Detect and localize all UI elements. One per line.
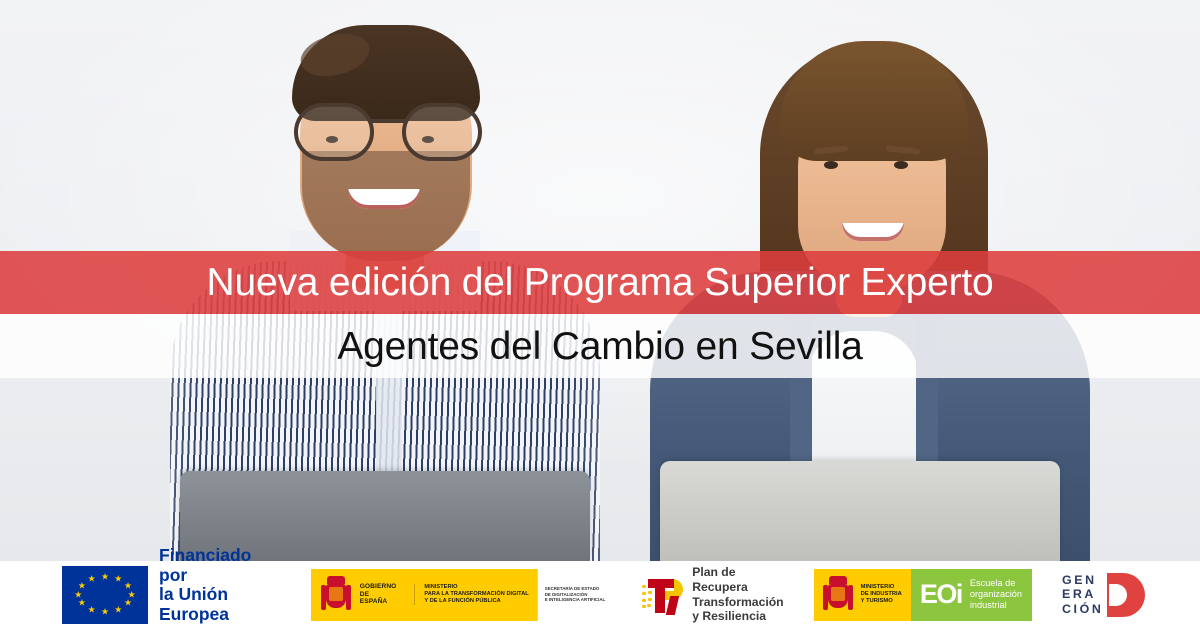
gobierno-line-1: GOBIERNO xyxy=(360,583,397,591)
prtr-dot-icon xyxy=(648,598,651,601)
coat-of-arms-icon xyxy=(321,576,351,614)
generacion-line-2: ERA xyxy=(1062,587,1103,601)
eu-star-icon: ★ xyxy=(114,606,122,615)
eoi-wordmark: EOi xyxy=(920,581,962,608)
logo-eoi: EOi Escuela de organización industrial xyxy=(911,569,1032,621)
eu-star-icon: ★ xyxy=(124,599,132,608)
page-title: Nueva edición del Programa Superior Expe… xyxy=(207,263,994,302)
man-smile xyxy=(348,189,420,209)
industria-line-1: MINISTERIO xyxy=(861,584,902,591)
eu-star-icon: ★ xyxy=(88,574,96,583)
eu-line-2: la Unión Europea xyxy=(159,585,281,624)
coat-of-arms-icon-2 xyxy=(823,576,853,614)
prtr-line-3: y Resiliencia xyxy=(692,609,783,624)
eu-star-icon: ★ xyxy=(114,574,122,583)
prtr-mark-icon xyxy=(642,575,684,615)
generacion-line-3: CIÓN xyxy=(1062,602,1103,616)
eu-star-icon: ★ xyxy=(78,581,86,590)
promo-poster: Nueva edición del Programa Superior Expe… xyxy=(0,0,1200,628)
woman-eye-left xyxy=(824,161,838,169)
woman-hair-front xyxy=(780,41,968,161)
prtr-dot-icon xyxy=(642,585,645,588)
glasses-bridge xyxy=(370,119,408,123)
prtr-line-2: Transformación xyxy=(692,595,783,610)
prtr-dot-icon xyxy=(648,591,651,594)
logo-european-union: ★★★★★★★★★★★★ Financiado por la Unión Eur… xyxy=(62,546,281,628)
eu-star-icon: ★ xyxy=(74,590,82,599)
headline-band: Nueva edición del Programa Superior Expe… xyxy=(0,251,1200,314)
secretaria-line-3: E INTELIGENCIA ARTIFICIAL xyxy=(545,597,605,603)
prtr-dot-icon xyxy=(642,605,645,608)
industria-line-3: Y TURISMO xyxy=(861,598,902,605)
ministerio-line-3: Y DE LA FUNCIÓN PÚBLICA xyxy=(424,598,528,605)
eu-flag-icon: ★★★★★★★★★★★★ xyxy=(62,566,148,624)
generacion-d-icon xyxy=(1107,573,1145,617)
footer-logo-bar: ★★★★★★★★★★★★ Financiado por la Unión Eur… xyxy=(0,561,1200,628)
eu-star-icon: ★ xyxy=(101,608,109,617)
ministerio-line-2: PARA LA TRANSFORMACIÓN DIGITAL xyxy=(424,591,528,598)
gobierno-line-2: DE ESPAÑA xyxy=(360,591,397,607)
secretaria-estado-block: SECRETARÍA DE ESTADO DE DIGITALIZACIÓN E… xyxy=(537,569,612,621)
generacion-line-1: GEN xyxy=(1062,573,1103,587)
prtr-line-1: Plan de Recupera xyxy=(692,565,783,595)
logo-gobierno-espana: GOBIERNO DE ESPAÑA MINISTERIO PARA LA TR… xyxy=(311,569,612,621)
eu-star-icon: ★ xyxy=(88,606,96,615)
eoi-line-2: organización xyxy=(970,589,1022,600)
subheadline-band: Agentes del Cambio en Sevilla xyxy=(0,314,1200,378)
logo-plan-recuperacion: Plan de Recupera Transformación y Resili… xyxy=(642,565,783,625)
eu-star-icon: ★ xyxy=(78,599,86,608)
industria-line-2: DE INDUSTRIA xyxy=(861,591,902,598)
prtr-dot-icon xyxy=(642,599,645,602)
prtr-dot-icon xyxy=(642,592,645,595)
eoi-line-3: industrial xyxy=(970,600,1022,611)
glasses-lens-right xyxy=(402,103,482,161)
page-subtitle: Agentes del Cambio en Sevilla xyxy=(337,327,862,366)
woman-eye-right xyxy=(894,161,908,169)
glasses-lens-left xyxy=(294,103,374,161)
eu-star-icon: ★ xyxy=(101,572,109,581)
glasses-icon xyxy=(290,103,486,153)
prtr-dot-icon xyxy=(647,604,650,607)
eoi-line-1: Escuela de xyxy=(970,578,1022,589)
eu-line-1: Financiado por xyxy=(159,546,281,585)
logo-industria-eoi: MINISTERIO DE INDUSTRIA Y TURISMO EOi Es… xyxy=(814,569,1032,621)
woman-smile xyxy=(842,223,904,241)
logo-generacion-d: GEN ERA CIÓN xyxy=(1062,573,1145,617)
